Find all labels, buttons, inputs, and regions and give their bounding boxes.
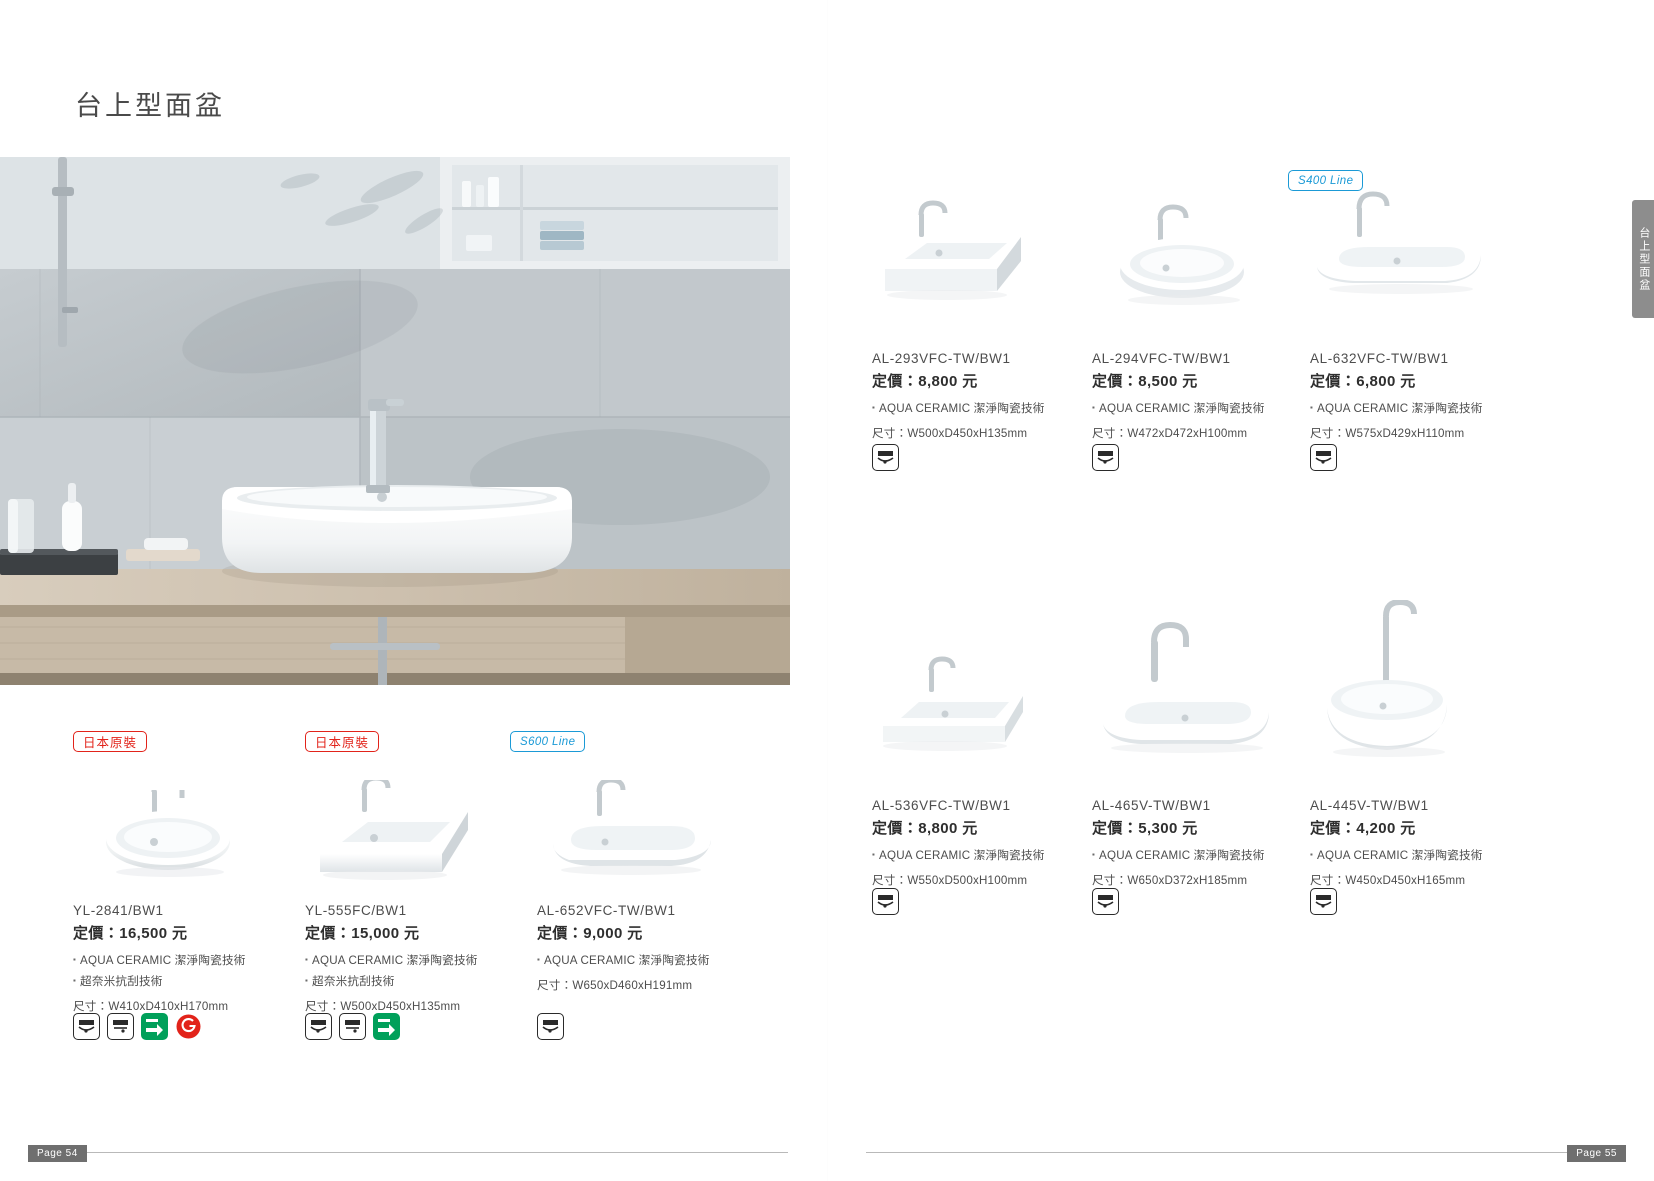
product-dimension: 尺寸：W575xD429xH110mm xyxy=(1310,425,1550,441)
catalog-page: 台上型面盆 xyxy=(0,0,1654,1181)
product-card-al-465v: AL-465V-TW/BW1 定價：5,300 元 AQUA CERAMIC 潔… xyxy=(1092,798,1322,888)
product-feature: AQUA CERAMIC 潔淨陶瓷技術 xyxy=(872,400,1102,416)
product-price: 定價：8,800 元 xyxy=(872,817,1102,838)
jp-seal-icon[interactable] xyxy=(175,1013,202,1040)
product-image-yl-555fc xyxy=(300,780,490,890)
footer-rule-left xyxy=(28,1152,788,1153)
product-price: 定價：16,500 元 xyxy=(73,922,303,943)
overflow-icon[interactable] xyxy=(872,444,899,471)
product-feature: 超奈米抗刮技術 xyxy=(73,973,303,989)
product-code: AL-293VFC-TW/BW1 xyxy=(872,351,1102,366)
overflow-icon[interactable] xyxy=(537,1013,564,1040)
product-image-al-445v xyxy=(1305,600,1490,765)
faucet-hole-icon[interactable] xyxy=(107,1013,134,1040)
product-image-al-536vfc xyxy=(875,650,1045,765)
product-dimension: 尺寸：W550xD500xH100mm xyxy=(872,872,1102,888)
product-feature: AQUA CERAMIC 潔淨陶瓷技術 xyxy=(1092,400,1322,416)
page-title: 台上型面盆 xyxy=(75,84,225,123)
overflow-icon[interactable] xyxy=(872,888,899,915)
eco-flush-icon[interactable] xyxy=(141,1013,168,1040)
overflow-icon[interactable] xyxy=(73,1013,100,1040)
product-dimension: 尺寸：W500xD450xH135mm xyxy=(872,425,1102,441)
product-feature: AQUA CERAMIC 潔淨陶瓷技術 xyxy=(73,952,303,968)
overflow-icon[interactable] xyxy=(305,1013,332,1040)
page-spine xyxy=(827,0,828,1181)
icon-strip-al-293vfc xyxy=(872,444,899,471)
product-card-yl-555fc: YL-555FC/BW1 定價：15,000 元 AQUA CERAMIC 潔淨… xyxy=(305,903,535,1014)
product-image-al-294vfc xyxy=(1100,200,1270,310)
icon-strip-al-536vfc xyxy=(872,888,899,915)
icon-strip-al-294vfc xyxy=(1092,444,1119,471)
product-dimension: 尺寸：W650xD372xH185mm xyxy=(1092,872,1322,888)
product-price: 定價：8,500 元 xyxy=(1092,370,1322,391)
product-image-al-465v xyxy=(1085,620,1285,765)
product-code: AL-632VFC-TW/BW1 xyxy=(1310,351,1550,366)
page-number-left: Page 54 xyxy=(28,1145,87,1162)
overflow-icon[interactable] xyxy=(1310,444,1337,471)
product-price: 定價：8,800 元 xyxy=(872,370,1102,391)
product-price: 定價：4,200 元 xyxy=(1310,817,1550,838)
product-feature: AQUA CERAMIC 潔淨陶瓷技術 xyxy=(305,952,535,968)
overflow-icon[interactable] xyxy=(1092,444,1119,471)
footer-rule-right xyxy=(866,1152,1626,1153)
icon-strip-al-465v xyxy=(1092,888,1119,915)
product-feature: AQUA CERAMIC 潔淨陶瓷技術 xyxy=(872,847,1102,863)
product-code: YL-2841/BW1 xyxy=(73,903,303,918)
badge-japan-origin-1: 日本原裝 xyxy=(73,731,147,752)
product-card-al-632vfc: AL-632VFC-TW/BW1 定價：6,800 元 AQUA CERAMIC… xyxy=(1310,351,1550,441)
product-code: AL-445V-TW/BW1 xyxy=(1310,798,1550,813)
product-code: YL-555FC/BW1 xyxy=(305,903,535,918)
product-card-al-294vfc: AL-294VFC-TW/BW1 定價：8,500 元 AQUA CERAMIC… xyxy=(1092,351,1322,441)
icon-strip-al-652vfc xyxy=(537,1013,564,1040)
icon-strip-yl-2841 xyxy=(73,1013,202,1040)
hero-bathroom-photo xyxy=(0,157,790,685)
page-number-right: Page 55 xyxy=(1567,1145,1626,1162)
icon-strip-yl-555fc xyxy=(305,1013,400,1040)
product-dimension: 尺寸：W410xD410xH170mm xyxy=(73,998,303,1014)
section-index-tab[interactable]: 台上型面盆 xyxy=(1632,200,1654,318)
product-image-al-652vfc xyxy=(535,780,725,885)
product-dimension: 尺寸：W450xD450xH165mm xyxy=(1310,872,1550,888)
product-price: 定價：9,000 元 xyxy=(537,922,777,943)
product-card-al-445v: AL-445V-TW/BW1 定價：4,200 元 AQUA CERAMIC 潔… xyxy=(1310,798,1550,888)
product-card-al-536vfc: AL-536VFC-TW/BW1 定價：8,800 元 AQUA CERAMIC… xyxy=(872,798,1102,888)
product-feature: AQUA CERAMIC 潔淨陶瓷技術 xyxy=(1310,847,1550,863)
overflow-icon[interactable] xyxy=(1310,888,1337,915)
product-feature: AQUA CERAMIC 潔淨陶瓷技術 xyxy=(537,952,777,968)
badge-japan-origin-2: 日本原裝 xyxy=(305,731,379,752)
product-code: AL-465V-TW/BW1 xyxy=(1092,798,1322,813)
icon-strip-al-445v xyxy=(1310,888,1337,915)
product-price: 定價：6,800 元 xyxy=(1310,370,1550,391)
product-price: 定價：15,000 元 xyxy=(305,922,535,943)
eco-flush-icon[interactable] xyxy=(373,1013,400,1040)
product-card-al-652vfc: AL-652VFC-TW/BW1 定價：9,000 元 AQUA CERAMIC… xyxy=(537,903,777,993)
section-index-tab-label: 台上型面盆 xyxy=(1636,227,1650,292)
product-feature: AQUA CERAMIC 潔淨陶瓷技術 xyxy=(1092,847,1322,863)
product-image-al-293vfc xyxy=(875,195,1045,310)
product-image-yl-2841 xyxy=(80,790,260,885)
badge-s600-line: S600 Line xyxy=(510,731,585,752)
product-card-al-293vfc: AL-293VFC-TW/BW1 定價：8,800 元 AQUA CERAMIC… xyxy=(872,351,1102,441)
product-dimension: 尺寸：W500xD450xH135mm xyxy=(305,998,535,1014)
product-code: AL-536VFC-TW/BW1 xyxy=(872,798,1102,813)
product-code: AL-294VFC-TW/BW1 xyxy=(1092,351,1322,366)
overflow-icon[interactable] xyxy=(1092,888,1119,915)
product-image-al-632vfc xyxy=(1305,185,1495,310)
product-card-yl-2841: YL-2841/BW1 定價：16,500 元 AQUA CERAMIC 潔淨陶… xyxy=(73,903,303,1014)
product-dimension: 尺寸：W650xD460xH191mm xyxy=(537,977,777,993)
product-code: AL-652VFC-TW/BW1 xyxy=(537,903,777,918)
faucet-hole-icon[interactable] xyxy=(339,1013,366,1040)
product-feature: AQUA CERAMIC 潔淨陶瓷技術 xyxy=(1310,400,1550,416)
product-price: 定價：5,300 元 xyxy=(1092,817,1322,838)
icon-strip-al-632vfc xyxy=(1310,444,1337,471)
product-dimension: 尺寸：W472xD472xH100mm xyxy=(1092,425,1322,441)
product-feature: 超奈米抗刮技術 xyxy=(305,973,535,989)
